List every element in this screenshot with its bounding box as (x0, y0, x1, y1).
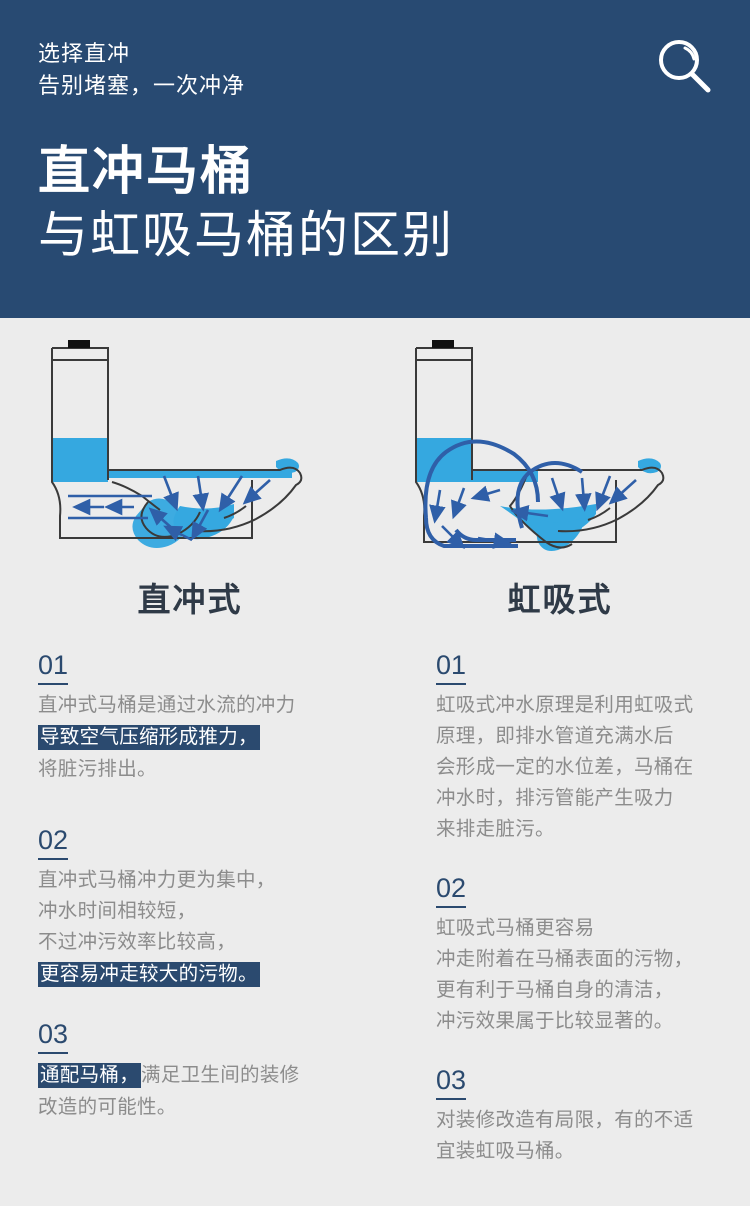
flow-arrow (600, 476, 610, 502)
item-line: 虹吸式冲水原理是利用虹吸式 (436, 690, 750, 721)
item-line: 冲走附着在马桶表面的污物， (436, 944, 750, 975)
item-line: 冲污效果属于比较显著的。 (436, 1006, 750, 1037)
item-line-highlighted: 导致空气压缩形成推力， (38, 721, 368, 754)
item-line: 直冲式马桶冲力更为集中， (38, 865, 368, 896)
item-line: 会形成一定的水位差，马桶在 (436, 752, 750, 783)
flow-arrow (224, 476, 242, 504)
flow-arrow (442, 526, 458, 542)
trap-water-right (537, 518, 582, 551)
list-item: 02 直冲式马桶冲力更为集中， 冲水时间相较短， 不过冲污效率比较高， 更容易冲… (38, 823, 368, 991)
diagram-caption-siphon: 虹吸式 (400, 573, 720, 621)
flow-arrow (480, 490, 500, 496)
item-number: 02 (436, 871, 466, 908)
flow-arrow (436, 490, 440, 514)
column-direct-flush: 01 直冲式马桶是通过水流的冲力 导致空气压缩形成推力， 将脏污排出。 02 直… (38, 648, 368, 1123)
item-body: 通配马桶，满足卫生间的装修 改造的可能性。 (38, 1059, 368, 1123)
rim-water (638, 458, 661, 473)
item-body: 直冲式马桶是通过水流的冲力 导致空气压缩形成推力， 将脏污排出。 (38, 690, 368, 785)
list-item: 03 通配马桶，满足卫生间的装修 改造的可能性。 (38, 1017, 368, 1123)
siphon-toilet-illustration (400, 330, 720, 570)
item-line: 直冲式马桶是通过水流的冲力 (38, 690, 368, 721)
list-item: 01 直冲式马桶是通过水流的冲力 导致空气压缩形成推力， 将脏污排出。 (38, 648, 368, 785)
flush-button[interactable] (68, 340, 90, 348)
search-icon (652, 34, 718, 100)
flow-arrow (456, 488, 464, 510)
item-body: 直冲式马桶冲力更为集中， 冲水时间相较短， 不过冲污效率比较高， 更容易冲走较大… (38, 865, 368, 991)
page-root: 选择直冲 告别堵塞，一次冲净 直冲马桶 与虹吸马桶的区别 (0, 0, 750, 1206)
search-button[interactable] (652, 34, 718, 100)
item-line-mixed: 通配马桶，满足卫生间的装修 (38, 1059, 368, 1092)
item-number: 01 (436, 648, 466, 685)
item-line: 对装修改造有局限，有的不适 (436, 1105, 750, 1136)
item-line: 更有利于马桶自身的清洁， (436, 975, 750, 1006)
flush-button[interactable] (432, 340, 454, 348)
tagline-line-1: 选择直冲 (38, 38, 245, 70)
item-line: 原理，即排水管道充满水后 (436, 721, 750, 752)
page-header: 选择直冲 告别堵塞，一次冲净 直冲马桶 与虹吸马桶的区别 (0, 0, 750, 318)
tagline-line-2: 告别堵塞，一次冲净 (38, 70, 245, 102)
item-line: 宜装虹吸马桶。 (436, 1136, 750, 1167)
diagram-direct-flush (30, 330, 350, 570)
item-number: 01 (38, 648, 68, 685)
item-line: 虹吸式马桶更容易 (436, 913, 750, 944)
title-line-1: 直冲马桶 (38, 140, 454, 204)
item-line-highlighted: 更容易冲走较大的污物。 (38, 958, 368, 991)
item-body: 对装修改造有局限，有的不适 宜装虹吸马桶。 (436, 1105, 750, 1167)
flow-arrow (164, 476, 174, 502)
item-line: 来排走脏污。 (436, 814, 750, 845)
diagram-section: 直冲式 虹吸式 (0, 318, 750, 628)
direct-flush-toilet-illustration (30, 330, 350, 570)
flow-arrow (582, 478, 584, 502)
item-line: 冲水时间相较短， (38, 896, 368, 927)
flow-arrow (616, 480, 636, 498)
item-line: 将脏污排出。 (38, 754, 368, 785)
item-body: 虹吸式马桶更容易 冲走附着在马桶表面的污物， 更有利于马桶自身的清洁， 冲污效果… (436, 913, 750, 1037)
title-line-2: 与虹吸马桶的区别 (38, 204, 454, 266)
list-item: 02 虹吸式马桶更容易 冲走附着在马桶表面的污物， 更有利于马桶自身的清洁， 冲… (436, 871, 750, 1037)
tank-water (52, 438, 292, 482)
diagram-caption-direct-flush: 直冲式 (30, 573, 350, 621)
item-line: 改造的可能性。 (38, 1092, 368, 1123)
diagram-siphon (400, 330, 720, 570)
item-number: 03 (436, 1063, 466, 1100)
item-number: 03 (38, 1017, 68, 1054)
flow-arrow (552, 478, 560, 502)
list-item: 01 虹吸式冲水原理是利用虹吸式 原理，即排水管道充满水后 会形成一定的水位差，… (436, 648, 750, 845)
header-tagline: 选择直冲 告别堵塞，一次冲净 (38, 38, 245, 102)
highlight-text: 更容易冲走较大的污物。 (38, 962, 260, 987)
page-title: 直冲马桶 与虹吸马桶的区别 (38, 140, 454, 266)
column-siphon: 01 虹吸式冲水原理是利用虹吸式 原理，即排水管道充满水后 会形成一定的水位差，… (436, 648, 750, 1167)
item-line: 冲水时，排污管能产生吸力 (436, 783, 750, 814)
flow-arrow (198, 476, 202, 502)
item-body: 虹吸式冲水原理是利用虹吸式 原理，即排水管道充满水后 会形成一定的水位差，马桶在… (436, 690, 750, 845)
item-line: 不过冲污效率比较高， (38, 927, 368, 958)
list-item: 03 对装修改造有局限，有的不适 宜装虹吸马桶。 (436, 1063, 750, 1167)
highlight-text: 导致空气压缩形成推力， (38, 725, 260, 750)
item-line-suffix: 满足卫生间的装修 (141, 1064, 299, 1086)
item-number: 02 (38, 823, 68, 860)
highlight-text: 通配马桶， (38, 1063, 141, 1088)
